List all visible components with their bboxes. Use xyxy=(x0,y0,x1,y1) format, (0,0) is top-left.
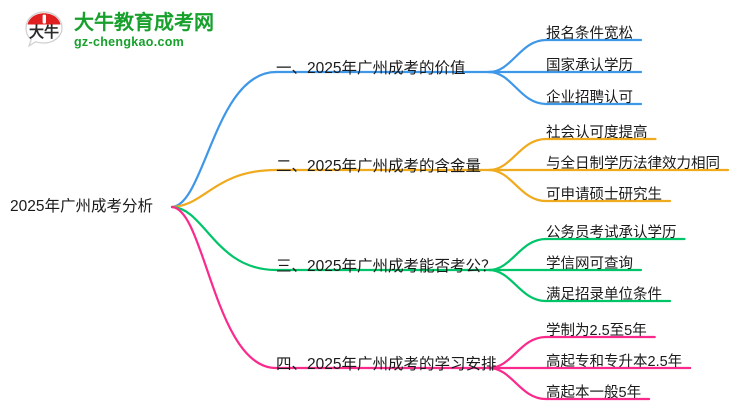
leaf-branch-4-item-3[interactable]: 高起本一般5年 xyxy=(546,381,641,402)
branch-label-4[interactable]: 四、2025年广州成考的学习安排 xyxy=(276,352,496,374)
leaf-branch-1-item-2[interactable]: 国家承认学历 xyxy=(546,54,633,75)
fan-branch-1-leaf-1 xyxy=(489,40,546,72)
leaf-branch-4-item-1[interactable]: 学制为2.5至5年 xyxy=(546,319,647,340)
branch-label-2[interactable]: 二、2025年广州成考的含金量 xyxy=(276,154,481,176)
trunk-branch-2 xyxy=(172,170,276,207)
fan-branch-4-leaf-1 xyxy=(489,337,546,368)
leaf-branch-3-item-2[interactable]: 学信网可查询 xyxy=(546,252,633,273)
leaf-branch-4-item-2[interactable]: 高起专和专升本2.5年 xyxy=(546,350,682,371)
leaf-branch-2-item-3[interactable]: 可申请硕士研究生 xyxy=(546,183,662,204)
leaf-branch-2-item-1[interactable]: 社会认可度提高 xyxy=(546,121,648,142)
mindmap-root-node[interactable]: 2025年广州成考分析 xyxy=(10,194,153,216)
trunk-branch-3 xyxy=(172,207,276,270)
branch-label-1[interactable]: 一、2025年广州成考的价值 xyxy=(276,56,465,78)
trunk-branch-4 xyxy=(172,207,276,368)
fan-branch-2-leaf-1 xyxy=(489,139,546,170)
branch-label-3[interactable]: 三、2025年广州成考能否考公？ xyxy=(276,254,496,276)
fan-branch-4-leaf-3 xyxy=(489,368,546,399)
leaf-branch-1-item-3[interactable]: 企业招聘认可 xyxy=(546,86,633,107)
fan-branch-1-leaf-3 xyxy=(489,72,546,104)
fan-branch-2-leaf-3 xyxy=(489,170,546,201)
fan-branch-3-leaf-1 xyxy=(489,239,546,270)
fan-branch-3-leaf-3 xyxy=(489,270,546,301)
leaf-branch-3-item-1[interactable]: 公务员考试承认学历 xyxy=(546,221,677,242)
leaf-branch-1-item-1[interactable]: 报名条件宽松 xyxy=(546,22,633,43)
leaf-branch-2-item-2[interactable]: 与全日制学历法律效力相同 xyxy=(546,152,720,173)
leaf-branch-3-item-3[interactable]: 满足招录单位条件 xyxy=(546,283,662,304)
trunk-branch-1 xyxy=(172,72,276,207)
